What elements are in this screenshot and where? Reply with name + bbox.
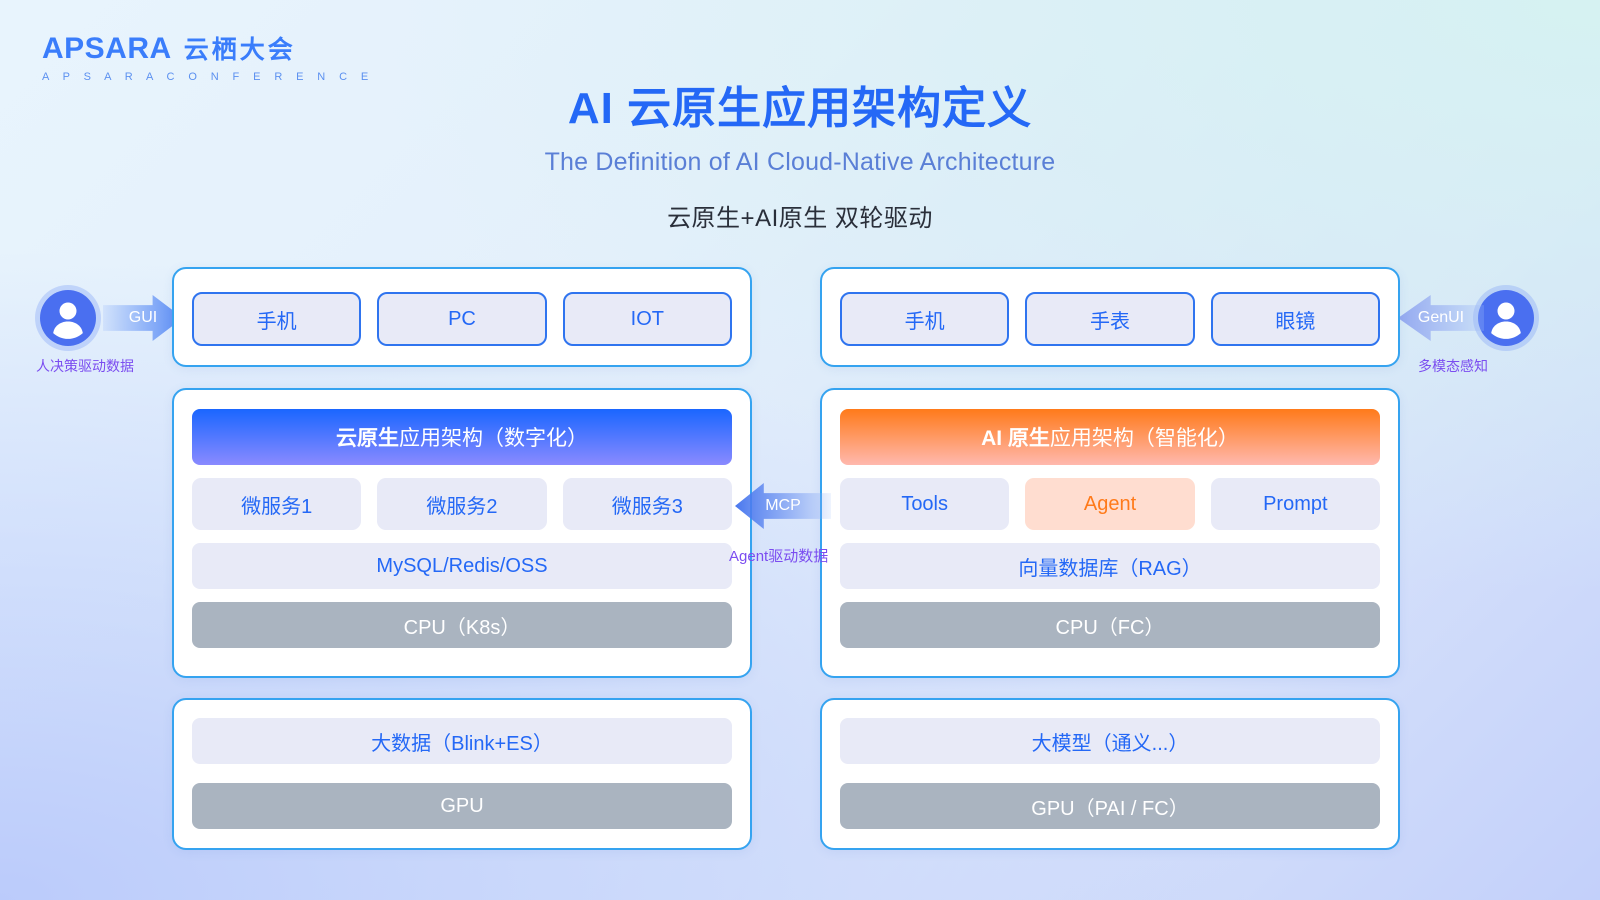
large-model-hardware-bar: GPU（PAI / FC） <box>840 783 1380 829</box>
logo-wordmark: APSARA 云栖大会 <box>42 30 374 66</box>
right-actor-caption: 多模态感知 <box>1418 356 1488 376</box>
left-actor-caption: 人决策驱动数据 <box>36 356 134 376</box>
genui-arrow-label: GenUI <box>1418 309 1464 327</box>
logo-brand-en: APSARA <box>42 32 172 66</box>
user-avatar-icon-right <box>1478 290 1534 346</box>
mcp-arrow-label: MCP <box>765 497 801 515</box>
mcp-arrow-caption: Agent驱动数据 <box>729 545 828 566</box>
large-model-stack: 大模型（通义...） GPU（PAI / FC） <box>822 718 1398 829</box>
cloud-native-storage-bar: MySQL/Redis/OSS <box>192 543 732 589</box>
gui-arrow-label: GUI <box>129 309 157 327</box>
cloud-native-banner-rest: 应用架构（数字化） <box>399 422 588 452</box>
ai-component-chip-tools[interactable]: Tools <box>840 478 1009 530</box>
microservices-row: 微服务1 微服务2 微服务3 <box>174 478 750 530</box>
big-data-hardware-bar: GPU <box>192 783 732 829</box>
logo-conference-tagline: A P S A R A C O N F E R E N C E <box>42 71 374 83</box>
cloud-native-banner: 云原生应用架构（数字化） <box>192 409 732 465</box>
cloud-native-architecture-card: 云原生应用架构（数字化） 微服务1 微服务2 微服务3 MySQL/Redis/… <box>172 388 752 678</box>
ai-components-row: Tools Agent Prompt <box>822 478 1398 530</box>
gui-arrow: GUI <box>103 295 183 341</box>
device-chip-left-3[interactable]: IOT <box>563 292 732 346</box>
slide-canvas: APSARA 云栖大会 A P S A R A C O N F E R E N … <box>0 0 1600 900</box>
ai-native-architecture-stack: AI 原生应用架构（智能化） Tools Agent Prompt 向量数据库（… <box>822 409 1398 648</box>
ai-native-banner-rest: 应用架构（智能化） <box>1050 422 1239 452</box>
device-chip-right-1[interactable]: 手机 <box>840 292 1009 346</box>
ai-native-storage-bar: 向量数据库（RAG） <box>840 543 1380 589</box>
ai-native-compute-bar: CPU（FC） <box>840 602 1380 648</box>
cloud-native-banner-bold: 云原生 <box>336 422 399 452</box>
cloud-native-architecture-stack: 云原生应用架构（数字化） 微服务1 微服务2 微服务3 MySQL/Redis/… <box>174 409 750 648</box>
left-devices-card: 手机 PC IOT <box>172 267 752 367</box>
big-data-stack: 大数据（Blink+ES） GPU <box>174 718 750 829</box>
page-subtitle: The Definition of AI Cloud-Native Archit… <box>0 148 1600 177</box>
ai-component-chip-prompt[interactable]: Prompt <box>1211 478 1380 530</box>
device-chip-left-1[interactable]: 手机 <box>192 292 361 346</box>
ai-native-architecture-card: AI 原生应用架构（智能化） Tools Agent Prompt 向量数据库（… <box>820 388 1400 678</box>
page-tagline: 云原生+AI原生 双轮驱动 <box>0 198 1600 233</box>
microservice-chip-2[interactable]: 微服务2 <box>377 478 546 530</box>
device-chip-left-2[interactable]: PC <box>377 292 546 346</box>
device-chip-right-2[interactable]: 手表 <box>1025 292 1194 346</box>
large-model-platform-bar: 大模型（通义...） <box>840 718 1380 764</box>
ai-native-banner: AI 原生应用架构（智能化） <box>840 409 1380 465</box>
page-title: AI 云原生应用架构定义 <box>0 84 1600 135</box>
logo-brand-cn: 云栖大会 <box>184 30 296 66</box>
ai-component-chip-agent[interactable]: Agent <box>1025 478 1194 530</box>
page-header: AI 云原生应用架构定义 The Definition of AI Cloud-… <box>0 84 1600 233</box>
ai-native-banner-bold: AI 原生 <box>981 422 1050 452</box>
right-devices-row: 手机 手表 眼镜 <box>822 292 1398 346</box>
apsara-logo: APSARA 云栖大会 A P S A R A C O N F E R E N … <box>42 30 374 83</box>
microservice-chip-3[interactable]: 微服务3 <box>563 478 732 530</box>
microservice-chip-1[interactable]: 微服务1 <box>192 478 361 530</box>
large-model-card: 大模型（通义...） GPU（PAI / FC） <box>820 698 1400 850</box>
cloud-native-compute-bar: CPU（K8s） <box>192 602 732 648</box>
user-avatar-icon-left <box>40 290 96 346</box>
left-devices-row: 手机 PC IOT <box>174 292 750 346</box>
device-chip-right-3[interactable]: 眼镜 <box>1211 292 1380 346</box>
right-devices-card: 手机 手表 眼镜 <box>820 267 1400 367</box>
big-data-card: 大数据（Blink+ES） GPU <box>172 698 752 850</box>
genui-arrow: GenUI <box>1398 295 1484 341</box>
big-data-platform-bar: 大数据（Blink+ES） <box>192 718 732 764</box>
